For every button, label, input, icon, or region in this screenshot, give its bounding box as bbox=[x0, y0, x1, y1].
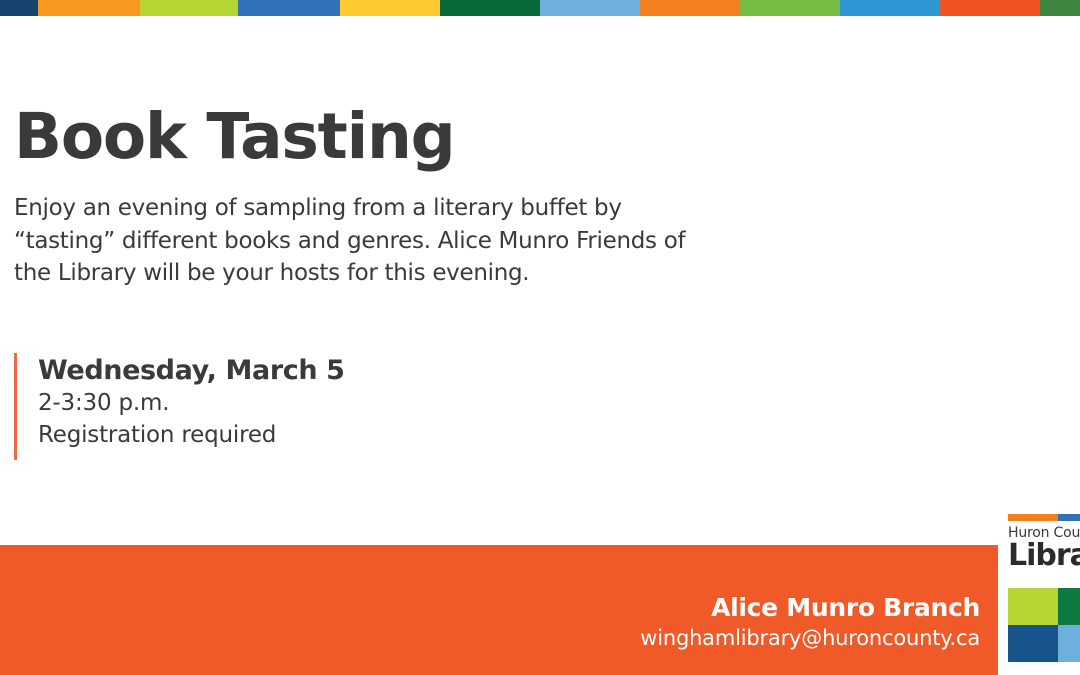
top-bar-segment-lime bbox=[140, 0, 238, 16]
event-poster: Book Tasting Enjoy an evening of samplin… bbox=[0, 0, 1080, 675]
footer-contact: Alice Munro Branch winghamlibrary@huronc… bbox=[640, 593, 980, 651]
logo-grid-cell-lime bbox=[1008, 588, 1058, 625]
top-bar-segment-dark-green bbox=[440, 0, 540, 16]
logo-rule-segment-blue bbox=[1058, 514, 1080, 521]
event-registration-note: Registration required bbox=[38, 420, 345, 452]
footer-band: Alice Munro Branch winghamlibrary@huronc… bbox=[0, 545, 1080, 675]
event-time: 2-3:30 p.m. bbox=[38, 388, 345, 420]
top-bar-segment-green bbox=[740, 0, 840, 16]
top-bar-segment-forest bbox=[1040, 0, 1080, 16]
logo-line-library: Library bbox=[1008, 541, 1080, 571]
logo-rule-segment-orange bbox=[1008, 514, 1058, 521]
poster-content: Book Tasting Enjoy an evening of samplin… bbox=[14, 104, 774, 290]
top-bar-segment-orange bbox=[38, 0, 140, 16]
page-title: Book Tasting bbox=[14, 104, 774, 170]
logo-color-rule bbox=[1008, 514, 1080, 521]
event-date: Wednesday, March 5 bbox=[38, 353, 345, 388]
top-bar-segment-yellow bbox=[340, 0, 440, 16]
top-color-bar bbox=[0, 0, 1080, 16]
event-details: Wednesday, March 5 2-3:30 p.m. Registrat… bbox=[14, 353, 345, 460]
huron-county-library-logo: Huron County Library bbox=[998, 505, 1080, 675]
top-bar-segment-navy bbox=[0, 0, 38, 16]
top-bar-segment-orange-2 bbox=[640, 0, 740, 16]
logo-grid-cell-light-blue bbox=[1058, 625, 1080, 662]
top-bar-segment-blue bbox=[238, 0, 340, 16]
branch-name: Alice Munro Branch bbox=[640, 593, 980, 623]
top-bar-segment-blue-2 bbox=[840, 0, 940, 16]
logo-grid-cell-navy bbox=[1008, 625, 1058, 662]
top-bar-segment-red-orange bbox=[940, 0, 1040, 16]
top-bar-segment-light-blue bbox=[540, 0, 640, 16]
logo-color-grid bbox=[1008, 588, 1080, 662]
logo-grid-cell-dark-green bbox=[1058, 588, 1080, 625]
event-description: Enjoy an evening of sampling from a lite… bbox=[14, 170, 714, 290]
branch-email[interactable]: winghamlibrary@huroncounty.ca bbox=[640, 623, 980, 651]
